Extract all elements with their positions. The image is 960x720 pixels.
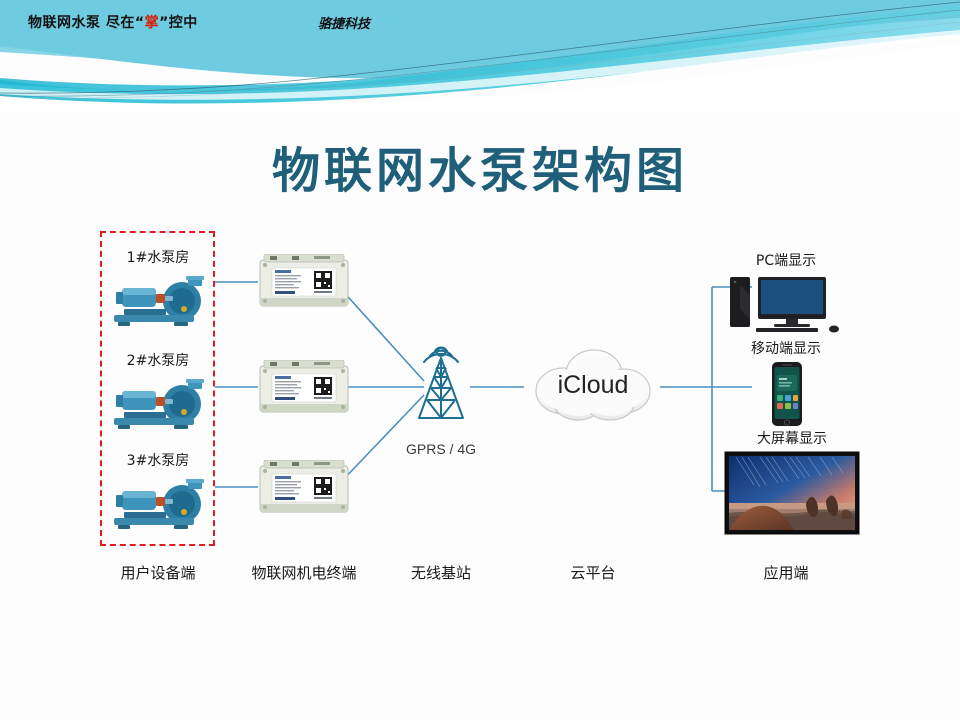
cloud-platform: iCloud	[518, 341, 668, 433]
pump-station-1-label: 1#水泵房	[98, 247, 218, 267]
endpoint-large-screen-label: 大屏幕显示	[722, 428, 862, 448]
banner-headline: 物联网水泵 尽在“掌”控中	[28, 12, 198, 32]
iot-terminal-icon	[258, 460, 350, 516]
large-screen-icon	[722, 451, 862, 537]
banner-quote-close: ”	[159, 15, 169, 31]
smartphone-icon	[722, 361, 850, 429]
banner-headline-suffix: 控中	[169, 15, 198, 31]
iot-terminal-1	[258, 254, 350, 310]
endpoint-large-screen: 大屏幕显示	[722, 428, 862, 542]
stage-label-user-equipment: 用户设备端	[100, 562, 216, 583]
water-pump-icon	[104, 474, 212, 532]
tower-label: GPRS / 4G	[386, 441, 496, 457]
iot-terminal-3	[258, 460, 350, 516]
banner-headline-accent: 掌	[145, 15, 160, 31]
pump-station-2-label: 2#水泵房	[98, 350, 218, 370]
desktop-computer-icon	[722, 273, 850, 335]
brand-name: 骆捷科技	[318, 13, 370, 32]
stage-label-base-station: 无线基站	[386, 562, 496, 583]
pump-station-3: 3#水泵房	[98, 450, 218, 537]
water-pump-icon	[104, 271, 212, 329]
pump-station-2: 2#水泵房	[98, 350, 218, 437]
slide-banner: 物联网水泵 尽在“掌”控中 骆捷科技	[0, 0, 960, 112]
presentation-slide: 物联网水泵 尽在“掌”控中 骆捷科技 物联网水泵架构图	[0, 0, 960, 720]
iot-terminal-icon	[258, 254, 350, 310]
cell-tower-icon	[386, 330, 496, 435]
water-pump-icon	[104, 374, 212, 432]
pump-station-3-label: 3#水泵房	[98, 450, 218, 470]
stage-label-iot-terminal: 物联网机电终端	[228, 562, 380, 583]
page-title: 物联网水泵架构图	[0, 131, 960, 201]
banner-quote-open: “	[135, 15, 145, 31]
endpoint-pc: PC端显示	[722, 250, 850, 340]
endpoint-pc-label: PC端显示	[722, 250, 850, 270]
iot-terminal-icon	[258, 360, 350, 416]
endpoint-mobile: 移动端显示	[722, 338, 850, 434]
iot-terminal-2	[258, 360, 350, 416]
endpoint-mobile-label: 移动端显示	[722, 338, 850, 358]
cloud-label: iCloud	[518, 371, 668, 400]
pump-station-1: 1#水泵房	[98, 247, 218, 334]
wireless-base-station: GPRS / 4G	[386, 330, 496, 457]
stage-label-application: 应用端	[722, 562, 850, 583]
stage-label-cloud-platform: 云平台	[533, 562, 653, 583]
banner-headline-prefix: 物联网水泵 尽在	[28, 15, 135, 31]
